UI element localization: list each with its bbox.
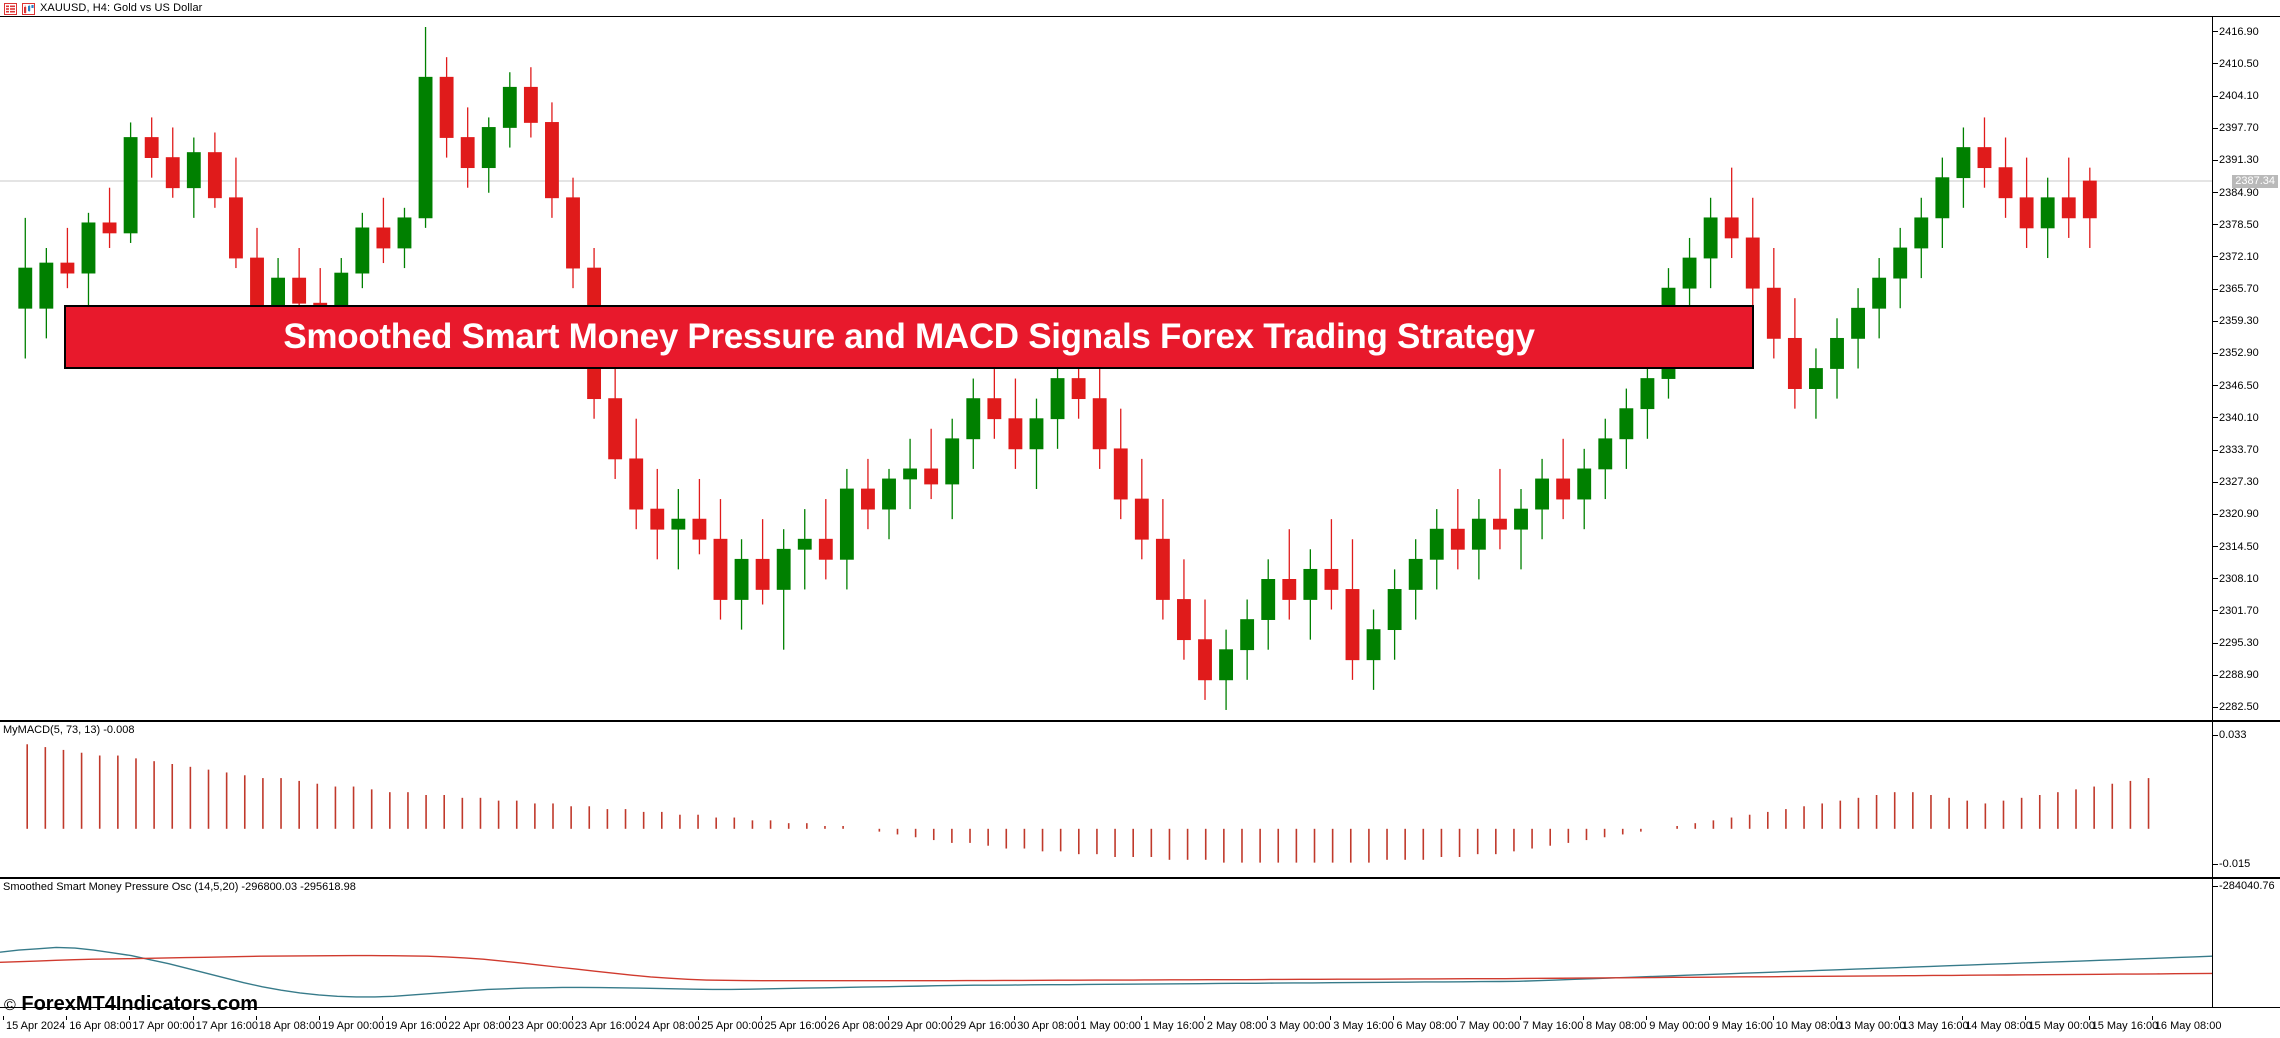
price-tick: 2384.90: [2213, 188, 2259, 199]
time-tick-label: 9 May 00:00: [1649, 1020, 1710, 1032]
time-tick-mark: [888, 1016, 889, 1020]
price-tick: 2301.70: [2213, 606, 2259, 617]
price-tick: 2308.10: [2213, 574, 2259, 585]
banner-text: Smoothed Smart Money Pressure and MACD S…: [283, 317, 1534, 357]
time-tick-label: 18 Apr 08:00: [259, 1020, 321, 1032]
time-tick-label: 9 May 16:00: [1712, 1020, 1773, 1032]
time-tick-label: 23 Apr 16:00: [575, 1020, 637, 1032]
price-tick: 2327.30: [2213, 477, 2259, 488]
time-tick-label: 1 May 16:00: [1144, 1020, 1205, 1032]
price-tick: 2410.50: [2213, 59, 2259, 70]
time-tick-label: 17 Apr 16:00: [196, 1020, 258, 1032]
time-tick-mark: [1077, 1016, 1078, 1020]
macd-tick: 0.033: [2213, 730, 2247, 741]
time-tick-mark: [698, 1016, 699, 1020]
price-scale[interactable]: 2416.902410.502404.102397.702391.302384.…: [2212, 17, 2280, 720]
oscillator-plot[interactable]: [0, 879, 2212, 1007]
oscillator-pane: Smoothed Smart Money Pressure Osc (14,5,…: [0, 878, 2280, 1008]
time-tick-mark: [825, 1016, 826, 1020]
time-tick-label: 24 Apr 08:00: [638, 1020, 700, 1032]
time-tick-label: 3 May 16:00: [1333, 1020, 1394, 1032]
price-tick: 2391.30: [2213, 155, 2259, 166]
price-tick: 2365.70: [2213, 284, 2259, 295]
time-tick-label: 15 May 00:00: [2028, 1020, 2095, 1032]
time-tick-mark: [1899, 1016, 1900, 1020]
time-tick-mark: [951, 1016, 952, 1020]
watermark-text: ForexMT4Indicators.com: [21, 993, 258, 1015]
oscillator-label: Smoothed Smart Money Pressure Osc (14,5,…: [3, 881, 356, 893]
time-tick-label: 30 Apr 08:00: [1017, 1020, 1079, 1032]
time-tick-label: 8 May 08:00: [1586, 1020, 1647, 1032]
time-tick-mark: [1709, 1016, 1710, 1020]
time-tick-label: 17 Apr 00:00: [132, 1020, 194, 1032]
time-axis: 15 Apr 202416 Apr 08:0017 Apr 00:0017 Ap…: [0, 1016, 2280, 1038]
strategy-banner: Smoothed Smart Money Pressure and MACD S…: [64, 305, 1754, 369]
time-tick-mark: [635, 1016, 636, 1020]
price-tick: 2295.30: [2213, 638, 2259, 649]
price-tick: 2378.50: [2213, 220, 2259, 231]
time-tick-label: 6 May 08:00: [1396, 1020, 1457, 1032]
chart-icon[interactable]: [22, 2, 35, 14]
time-tick-mark: [1520, 1016, 1521, 1020]
time-tick-mark: [1457, 1016, 1458, 1020]
price-tick: 2372.10: [2213, 252, 2259, 263]
time-tick-label: 13 May 16:00: [1902, 1020, 1969, 1032]
time-tick-mark: [1330, 1016, 1331, 1020]
time-tick-label: 7 May 00:00: [1460, 1020, 1521, 1032]
oscillator-scale[interactable]: -284040.76: [2212, 879, 2280, 1007]
time-tick-mark: [761, 1016, 762, 1020]
price-tick: 2416.90: [2213, 27, 2259, 38]
time-tick-mark: [1646, 1016, 1647, 1020]
time-tick-mark: [193, 1016, 194, 1020]
time-tick-mark: [382, 1016, 383, 1020]
time-tick-label: 29 Apr 00:00: [891, 1020, 953, 1032]
price-tick: 2314.50: [2213, 542, 2259, 553]
chart-titlebar: XAUUSD, H4: Gold vs US Dollar: [0, 0, 2280, 17]
oscillator-tick: -284040.76: [2213, 881, 2275, 892]
time-tick-label: 10 May 08:00: [1776, 1020, 1843, 1032]
time-tick-label: 19 Apr 16:00: [385, 1020, 447, 1032]
time-tick-mark: [3, 1016, 4, 1020]
time-tick-label: 23 Apr 00:00: [512, 1020, 574, 1032]
time-tick-label: 3 May 00:00: [1270, 1020, 1331, 1032]
time-tick-mark: [1014, 1016, 1015, 1020]
time-tick-mark: [1773, 1016, 1774, 1020]
time-tick-label: 19 Apr 00:00: [322, 1020, 384, 1032]
time-tick-label: 15 May 16:00: [2092, 1020, 2159, 1032]
time-tick-mark: [2152, 1016, 2153, 1020]
time-tick-mark: [1267, 1016, 1268, 1020]
time-tick-mark: [1204, 1016, 1205, 1020]
time-tick-label: 7 May 16:00: [1523, 1020, 1584, 1032]
macd-tick: -0.015: [2213, 859, 2250, 870]
time-tick-mark: [572, 1016, 573, 1020]
time-tick-mark: [1141, 1016, 1142, 1020]
time-tick-mark: [1962, 1016, 1963, 1020]
time-tick-label: 16 May 08:00: [2155, 1020, 2222, 1032]
list-icon[interactable]: [4, 2, 17, 14]
time-tick-mark: [66, 1016, 67, 1020]
price-tick: 2397.70: [2213, 123, 2259, 134]
time-tick-label: 26 Apr 08:00: [828, 1020, 890, 1032]
time-tick-label: 14 May 08:00: [1965, 1020, 2032, 1032]
time-tick-label: 2 May 08:00: [1207, 1020, 1268, 1032]
mt4-chart-window: XAUUSD, H4: Gold vs US Dollar 2416.90241…: [0, 0, 2280, 1038]
time-tick-label: 25 Apr 00:00: [701, 1020, 763, 1032]
time-tick-label: 1 May 00:00: [1080, 1020, 1141, 1032]
price-tick: 2359.30: [2213, 316, 2259, 327]
site-watermark: © ForexMT4Indicators.com: [4, 993, 258, 1016]
time-tick-mark: [445, 1016, 446, 1020]
time-tick-label: 29 Apr 16:00: [954, 1020, 1016, 1032]
time-tick-mark: [2089, 1016, 2090, 1020]
price-tick: 2288.90: [2213, 670, 2259, 681]
time-tick-mark: [2025, 1016, 2026, 1020]
price-tick: 2320.90: [2213, 509, 2259, 520]
price-tick: 2333.70: [2213, 445, 2259, 456]
time-tick-label: 15 Apr 2024: [6, 1020, 65, 1032]
price-pane: 2416.902410.502404.102397.702391.302384.…: [0, 17, 2280, 721]
time-tick-mark: [256, 1016, 257, 1020]
price-tick: 2346.50: [2213, 381, 2259, 392]
price-tick: 2340.10: [2213, 413, 2259, 424]
time-tick-mark: [319, 1016, 320, 1020]
price-tick: 2404.10: [2213, 91, 2259, 102]
time-tick-label: 22 Apr 08:00: [448, 1020, 510, 1032]
price-tick: 2282.50: [2213, 702, 2259, 713]
copyright-symbol: ©: [4, 997, 16, 1014]
macd-label: MyMACD(5, 73, 13) -0.008: [3, 724, 134, 736]
time-tick-mark: [1836, 1016, 1837, 1020]
time-tick-mark: [129, 1016, 130, 1020]
time-tick-mark: [1393, 1016, 1394, 1020]
time-tick-label: 16 Apr 08:00: [69, 1020, 131, 1032]
time-tick-label: 25 Apr 16:00: [764, 1020, 826, 1032]
macd-plot[interactable]: [0, 722, 2212, 877]
time-tick-mark: [1583, 1016, 1584, 1020]
current-price-label: 2387.34: [2232, 175, 2278, 188]
symbol-title: XAUUSD, H4: Gold vs US Dollar: [40, 2, 202, 14]
macd-scale[interactable]: 0.033-0.015: [2212, 722, 2280, 877]
macd-pane: MyMACD(5, 73, 13) -0.008 0.033-0.015: [0, 721, 2280, 878]
time-tick-label: 13 May 00:00: [1839, 1020, 1906, 1032]
time-tick-mark: [509, 1016, 510, 1020]
price-tick: 2352.90: [2213, 348, 2259, 359]
